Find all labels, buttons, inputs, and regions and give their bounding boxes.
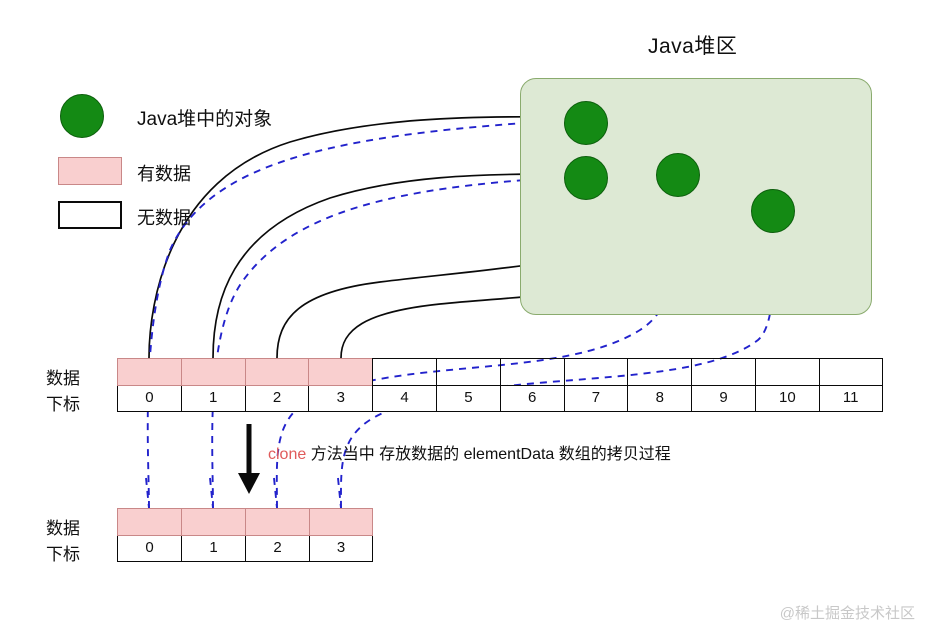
- array-cell-data-8: [627, 358, 691, 386]
- array-cell-index-1: 1: [181, 536, 245, 562]
- array-cell-data-11: [819, 358, 883, 386]
- array-cell-index-10: 10: [755, 386, 819, 412]
- legend-swatch-white-rect: [58, 201, 122, 229]
- array-cell-5: 5: [436, 358, 500, 412]
- legend-swatch-pink-rect: [58, 157, 122, 185]
- array-cell-data-2: [245, 358, 309, 386]
- caption-keyword: clone: [268, 446, 306, 463]
- array-cell-index-0: 0: [117, 386, 181, 412]
- array-cell-8: 8: [627, 358, 691, 412]
- caption-text: 方法当中 存放数据的 elementData 数组的拷贝过程: [306, 446, 671, 463]
- array-cell-index-7: 7: [564, 386, 628, 412]
- top-array-index-label: 下标: [46, 390, 80, 415]
- array-cell-3: 3: [308, 358, 372, 412]
- diagram-canvas: Java堆区 Java堆中的对象 有数据 无数据 数据 下标 012345678…: [0, 0, 933, 633]
- copy-droppers: [146, 478, 341, 508]
- array-cell-0: 0: [117, 508, 181, 562]
- clone-arrow: [238, 424, 260, 494]
- array-cell-10: 10: [755, 358, 819, 412]
- array-cell-index-0: 0: [117, 536, 181, 562]
- original-element-data-array: 01234567891011: [117, 358, 883, 412]
- array-cell-data-3: [309, 508, 373, 536]
- array-cell-index-1: 1: [181, 386, 245, 412]
- legend-swatch-green-circle: [60, 94, 104, 138]
- array-cell-index-6: 6: [500, 386, 564, 412]
- legend-label-object: Java堆中的对象: [137, 104, 272, 131]
- array-cell-0: 0: [117, 358, 181, 412]
- array-cell-data-2: [245, 508, 309, 536]
- array-cell-1: 1: [181, 358, 245, 412]
- array-cell-index-8: 8: [627, 386, 691, 412]
- array-cell-data-6: [500, 358, 564, 386]
- array-cell-data-7: [564, 358, 628, 386]
- heap-object-3: [656, 153, 700, 197]
- bottom-array-index-label: 下标: [46, 540, 80, 565]
- array-cell-3: 3: [309, 508, 373, 562]
- reference-curve-cell-0: [149, 117, 553, 358]
- array-cell-data-9: [691, 358, 755, 386]
- legend-label-has-data: 有数据: [137, 160, 191, 186]
- array-cell-data-0: [117, 358, 181, 386]
- copy-dropper-1: [210, 478, 213, 508]
- heap-title: Java堆区: [648, 30, 737, 60]
- array-cell-data-10: [755, 358, 819, 386]
- array-cell-2: 2: [245, 358, 309, 412]
- array-cell-data-3: [308, 358, 372, 386]
- array-cell-index-3: 3: [309, 536, 373, 562]
- copy-dropper-2: [274, 478, 277, 508]
- top-array-data-label: 数据: [46, 364, 80, 389]
- array-cell-6: 6: [500, 358, 564, 412]
- array-cell-data-0: [117, 508, 181, 536]
- array-cell-4: 4: [372, 358, 436, 412]
- copy-dropper-0: [146, 478, 149, 508]
- heap-object-4: [751, 189, 795, 233]
- array-cell-index-5: 5: [436, 386, 500, 412]
- array-cell-index-2: 2: [245, 386, 309, 412]
- array-cell-index-4: 4: [372, 386, 436, 412]
- array-cell-11: 11: [819, 358, 883, 412]
- array-cell-index-3: 3: [308, 386, 372, 412]
- java-heap-region: [520, 78, 872, 315]
- copy-dropper-3: [338, 478, 341, 508]
- array-cell-7: 7: [564, 358, 628, 412]
- watermark: @稀土掘金技术社区: [780, 602, 915, 623]
- array-cell-data-1: [181, 508, 245, 536]
- array-cell-index-11: 11: [819, 386, 883, 412]
- array-cell-index-9: 9: [691, 386, 755, 412]
- array-cell-data-4: [372, 358, 436, 386]
- heap-object-1: [564, 101, 608, 145]
- cloned-element-data-array: 0123: [117, 508, 373, 562]
- array-cell-2: 2: [245, 508, 309, 562]
- legend-label-no-data: 无数据: [137, 204, 191, 230]
- bottom-array-data-label: 数据: [46, 514, 80, 539]
- array-cell-index-2: 2: [245, 536, 309, 562]
- array-cell-1: 1: [181, 508, 245, 562]
- heap-object-2: [564, 156, 608, 200]
- array-cell-data-1: [181, 358, 245, 386]
- reference-curve-cell-1: [213, 174, 553, 358]
- clone-caption: clone 方法当中 存放数据的 elementData 数组的拷贝过程: [268, 440, 671, 464]
- array-cell-data-5: [436, 358, 500, 386]
- array-cell-9: 9: [691, 358, 755, 412]
